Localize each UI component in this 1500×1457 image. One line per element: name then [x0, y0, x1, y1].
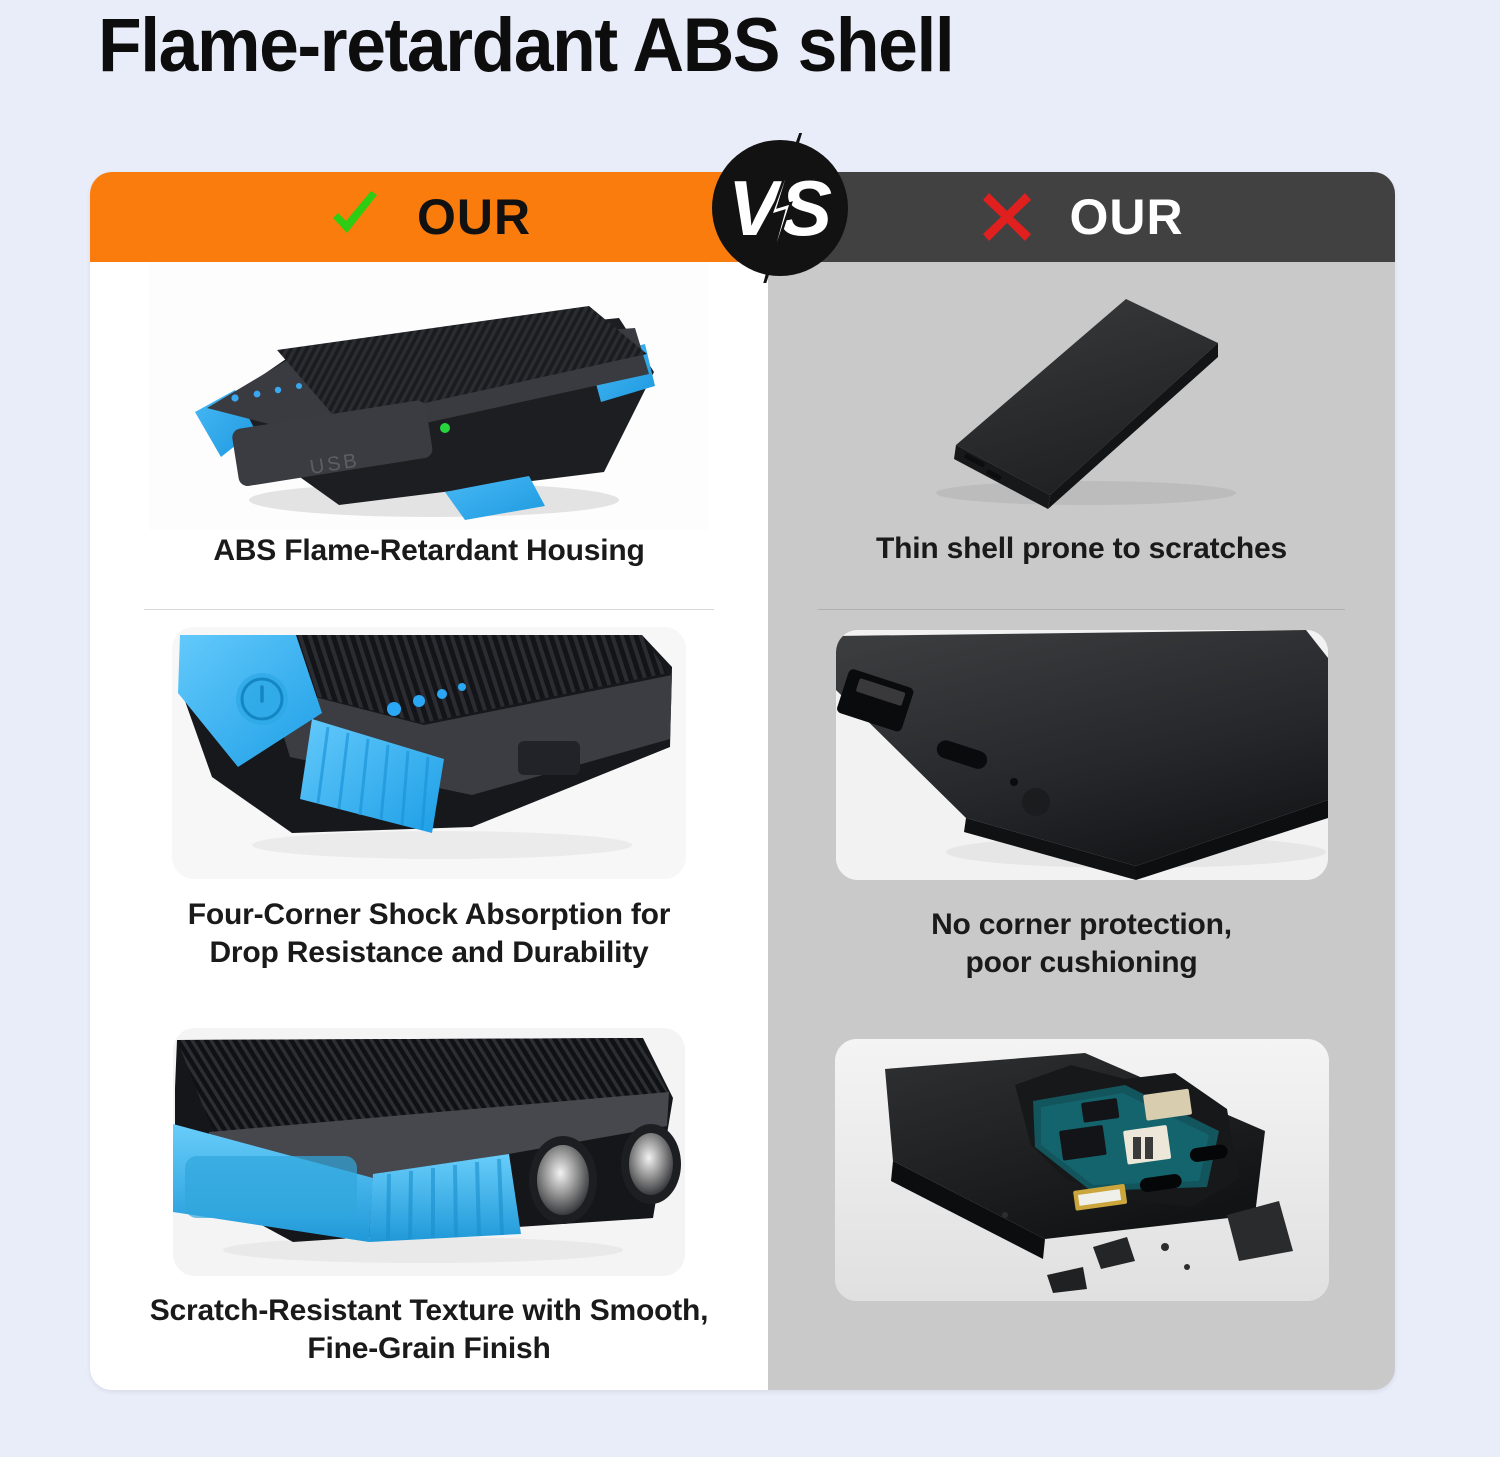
left-caption-1: ABS Flame-Retardant Housing: [213, 532, 644, 570]
right-caption-1: Thin shell prone to scratches: [876, 530, 1287, 568]
right-image-3-wrap: [768, 1010, 1395, 1310]
left-cell-1: USB ABS Flame-Retardant Housing: [90, 262, 768, 610]
page-title: Flame-retardant ABS shell: [98, 2, 953, 89]
left-caption-3: Scratch-Resistant Texture with Smooth, F…: [150, 1292, 709, 1368]
right-caption-1-line-1: Thin shell prone to scratches: [876, 530, 1287, 568]
left-column-body: USB ABS Flame-Retardant Housing: [90, 262, 768, 1390]
left-caption-2: Four-Corner Shock Absorption for Drop Re…: [188, 896, 670, 972]
left-caption-3-line-2: Fine-Grain Finish: [150, 1330, 709, 1368]
left-caption-3-line-1: Scratch-Resistant Texture with Smooth,: [150, 1292, 709, 1330]
right-cell-3: [768, 1010, 1395, 1390]
right-caption-2-line-2: poor cushioning: [931, 944, 1232, 982]
plain-power-bank-edge-closeup-image: [836, 630, 1328, 880]
comparison-board: OUR: [90, 172, 1395, 1390]
vs-badge: VS: [705, 133, 855, 283]
right-cell-2: No corner protection, poor cushioning: [768, 610, 1395, 1010]
left-caption-2-line-1: Four-Corner Shock Absorption for: [188, 896, 670, 934]
left-image-3-wrap: [90, 1010, 768, 1278]
corner-bumper-closeup-image: [172, 627, 686, 879]
right-image-2-wrap: [768, 610, 1395, 890]
column-competitor-product: OUR: [768, 172, 1395, 1390]
plain-thin-power-bank-image: [836, 265, 1328, 527]
left-caption-1-line-1: ABS Flame-Retardant Housing: [213, 532, 644, 570]
left-cell-3: Scratch-Resistant Texture with Smooth, F…: [90, 1010, 768, 1390]
right-caption-2: No corner protection, poor cushioning: [931, 906, 1232, 982]
right-caption-2-line-1: No corner protection,: [931, 906, 1232, 944]
left-header-label: OUR: [417, 188, 531, 246]
left-image-2-wrap: [90, 610, 768, 882]
textured-surface-flashlight-closeup-image: [173, 1028, 685, 1276]
green-check-icon: [327, 189, 383, 245]
left-column-header: OUR: [90, 172, 768, 262]
right-header-label: OUR: [1069, 188, 1183, 246]
right-image-1-wrap: [768, 262, 1395, 530]
cracked-power-bank-exposed-board-image: [835, 1039, 1329, 1301]
left-cell-2: Four-Corner Shock Absorption for Drop Re…: [90, 610, 768, 1010]
column-our-product: OUR: [90, 172, 768, 1390]
right-cell-1: Thin shell prone to scratches: [768, 262, 1395, 610]
left-image-1-wrap: USB: [90, 262, 768, 530]
rugged-power-bank-top-view-image: USB: [149, 262, 709, 530]
left-caption-2-line-2: Drop Resistance and Durability: [188, 934, 670, 972]
red-cross-icon: [979, 189, 1035, 245]
right-column-header: OUR: [768, 172, 1395, 262]
right-column-body: Thin shell prone to scratches: [768, 262, 1395, 1390]
